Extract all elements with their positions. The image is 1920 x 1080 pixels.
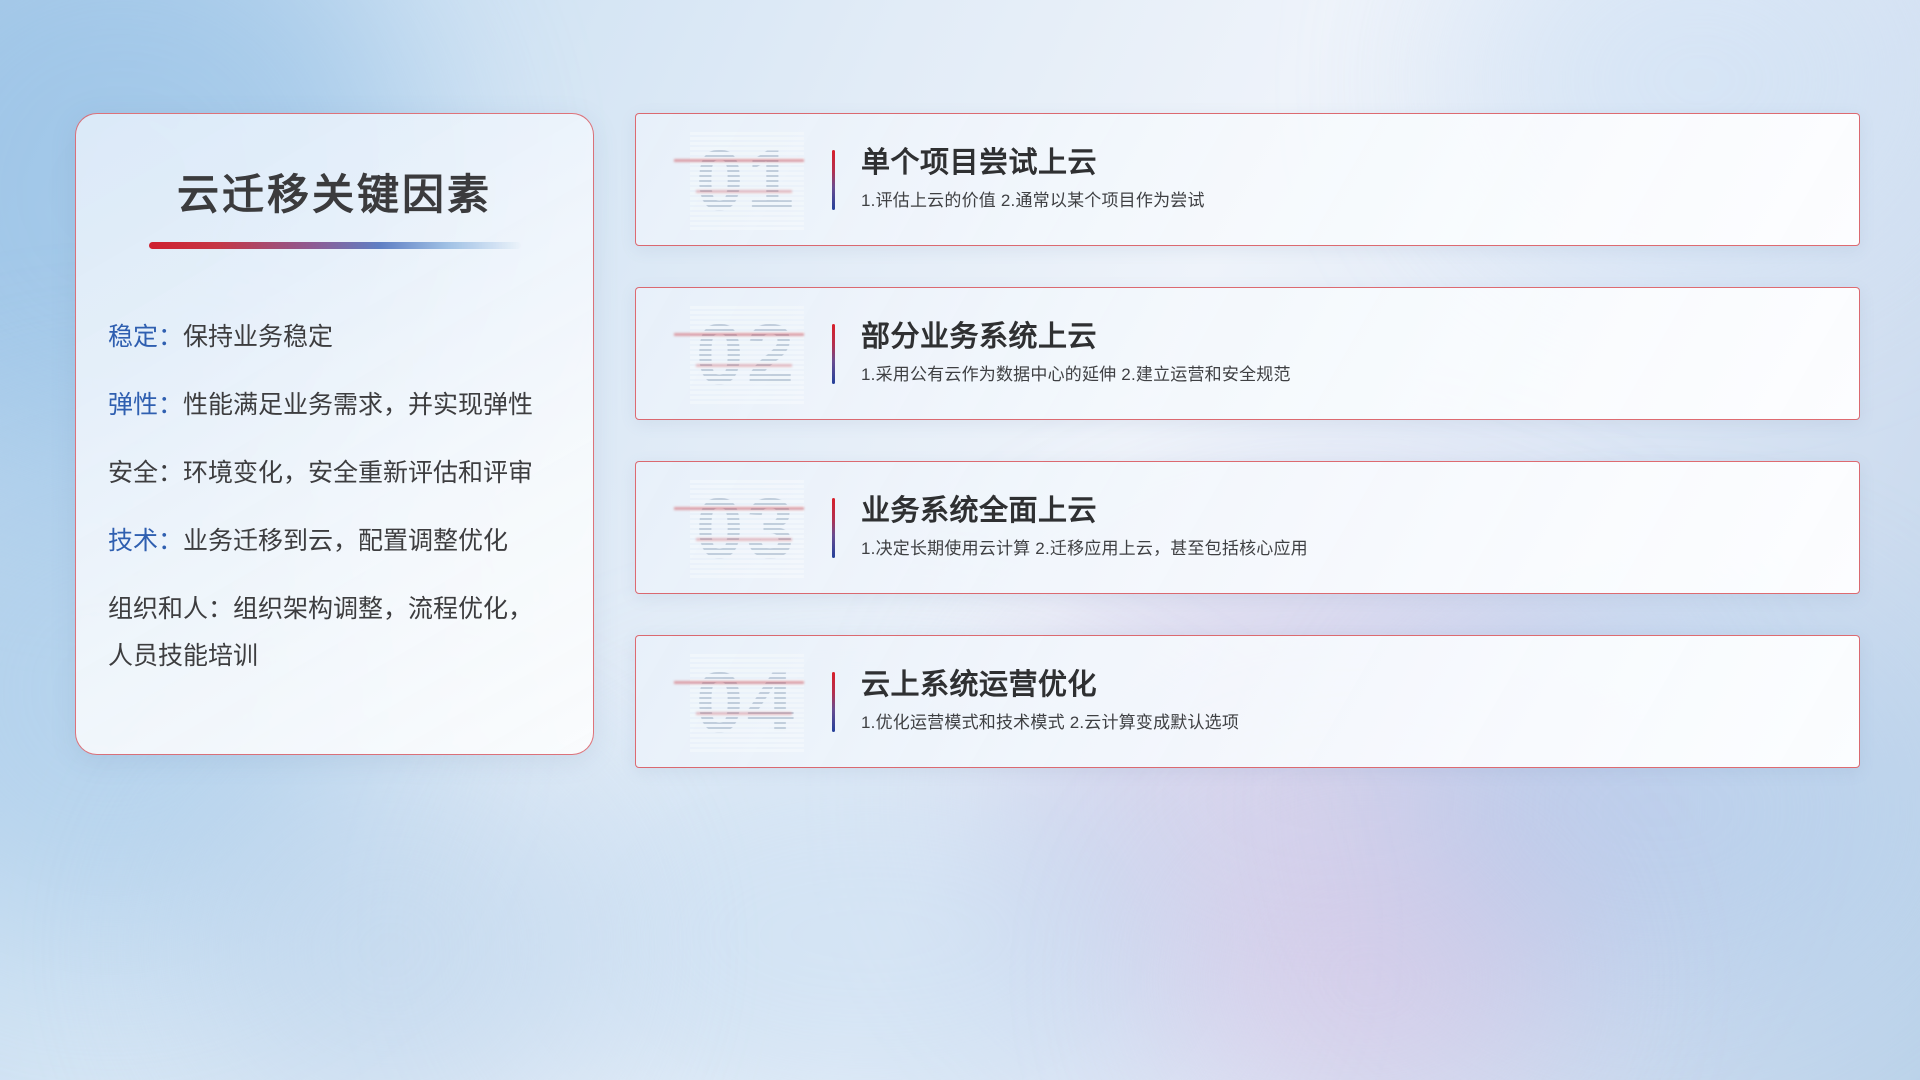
stage-number-glyph: 03	[696, 486, 797, 570]
factor-label: 组织和人：	[108, 595, 233, 623]
stage-number-glyph: 04	[696, 660, 797, 744]
factor-item: 组织和人：组织架构调整，流程优化，	[108, 597, 593, 622]
card-body: 云上系统运营优化1.优化运营模式和技术模式 2.云计算变成默认选项	[861, 669, 1859, 734]
stage-number-tint	[674, 681, 804, 684]
factor-item: 技术：业务迁移到云，配置调整优化	[108, 529, 593, 554]
factor-item: 人员技能培训	[108, 644, 593, 669]
factor-label: 安全：	[108, 459, 183, 487]
stage-number: 01	[662, 114, 832, 245]
card-accent-divider	[832, 324, 835, 384]
card-title: 部分业务系统上云	[861, 321, 1839, 354]
stage-card[interactable]: 02部分业务系统上云1.采用公有云作为数据中心的延伸 2.建立运营和安全规范	[635, 287, 1860, 420]
stage-number-tint	[696, 538, 792, 541]
stage-number: 02	[662, 288, 832, 419]
factor-item: 安全：环境变化，安全重新评估和评审	[108, 461, 593, 486]
factor-label: 技术：	[108, 527, 183, 555]
stage-number-tint	[674, 159, 804, 162]
card-title: 云上系统运营优化	[861, 669, 1839, 702]
stage-number-tint	[696, 712, 792, 715]
factor-list: 稳定：保持业务稳定弹性：性能满足业务需求，并实现弹性安全：环境变化，安全重新评估…	[76, 325, 593, 669]
key-factors-panel: 云迁移关键因素 稳定：保持业务稳定弹性：性能满足业务需求，并实现弹性安全：环境变…	[75, 113, 594, 755]
stage-number-glyph: 01	[696, 138, 797, 222]
stage-card-list: 01单个项目尝试上云1.评估上云的价值 2.通常以某个项目作为尝试02部分业务系…	[635, 113, 1860, 768]
card-title: 业务系统全面上云	[861, 495, 1839, 528]
panel-title: 云迁移关键因素	[76, 161, 593, 222]
factor-text: 环境变化，安全重新评估和评审	[183, 459, 533, 487]
stage-card[interactable]: 01单个项目尝试上云1.评估上云的价值 2.通常以某个项目作为尝试	[635, 113, 1860, 246]
card-description: 1.优化运营模式和技术模式 2.云计算变成默认选项	[861, 713, 1839, 733]
stage-number-tint	[696, 364, 792, 367]
stage-number-glyph: 02	[696, 312, 797, 396]
card-description: 1.采用公有云作为数据中心的延伸 2.建立运营和安全规范	[861, 365, 1839, 385]
card-accent-divider	[832, 672, 835, 732]
card-description: 1.决定长期使用云计算 2.迁移应用上云，甚至包括核心应用	[861, 539, 1839, 559]
stage-number-tint	[696, 190, 792, 193]
title-underline-rule	[149, 242, 521, 249]
factor-text: 性能满足业务需求，并实现弹性	[183, 391, 533, 419]
factor-label: 稳定：	[108, 323, 183, 351]
card-body: 部分业务系统上云1.采用公有云作为数据中心的延伸 2.建立运营和安全规范	[861, 321, 1859, 386]
stage-card[interactable]: 03业务系统全面上云1.决定长期使用云计算 2.迁移应用上云，甚至包括核心应用	[635, 461, 1860, 594]
card-accent-divider	[832, 498, 835, 558]
factor-label: 弹性：	[108, 391, 183, 419]
factor-text: 组织架构调整，流程优化，	[233, 595, 533, 623]
stage-number-tint	[674, 333, 804, 336]
stage-number: 03	[662, 462, 832, 593]
stage-number: 04	[662, 636, 832, 767]
stage-number-tint	[674, 507, 804, 510]
factor-text: 业务迁移到云，配置调整优化	[183, 527, 508, 555]
factor-item: 弹性：性能满足业务需求，并实现弹性	[108, 393, 593, 418]
factor-item: 稳定：保持业务稳定	[108, 325, 593, 350]
factor-text: 人员技能培训	[108, 642, 258, 670]
card-body: 业务系统全面上云1.决定长期使用云计算 2.迁移应用上云，甚至包括核心应用	[861, 495, 1859, 560]
factor-text: 保持业务稳定	[183, 323, 333, 351]
card-title: 单个项目尝试上云	[861, 147, 1839, 180]
card-description: 1.评估上云的价值 2.通常以某个项目作为尝试	[861, 191, 1839, 211]
card-accent-divider	[832, 150, 835, 210]
card-body: 单个项目尝试上云1.评估上云的价值 2.通常以某个项目作为尝试	[861, 147, 1859, 212]
stage-card[interactable]: 04云上系统运营优化1.优化运营模式和技术模式 2.云计算变成默认选项	[635, 635, 1860, 768]
